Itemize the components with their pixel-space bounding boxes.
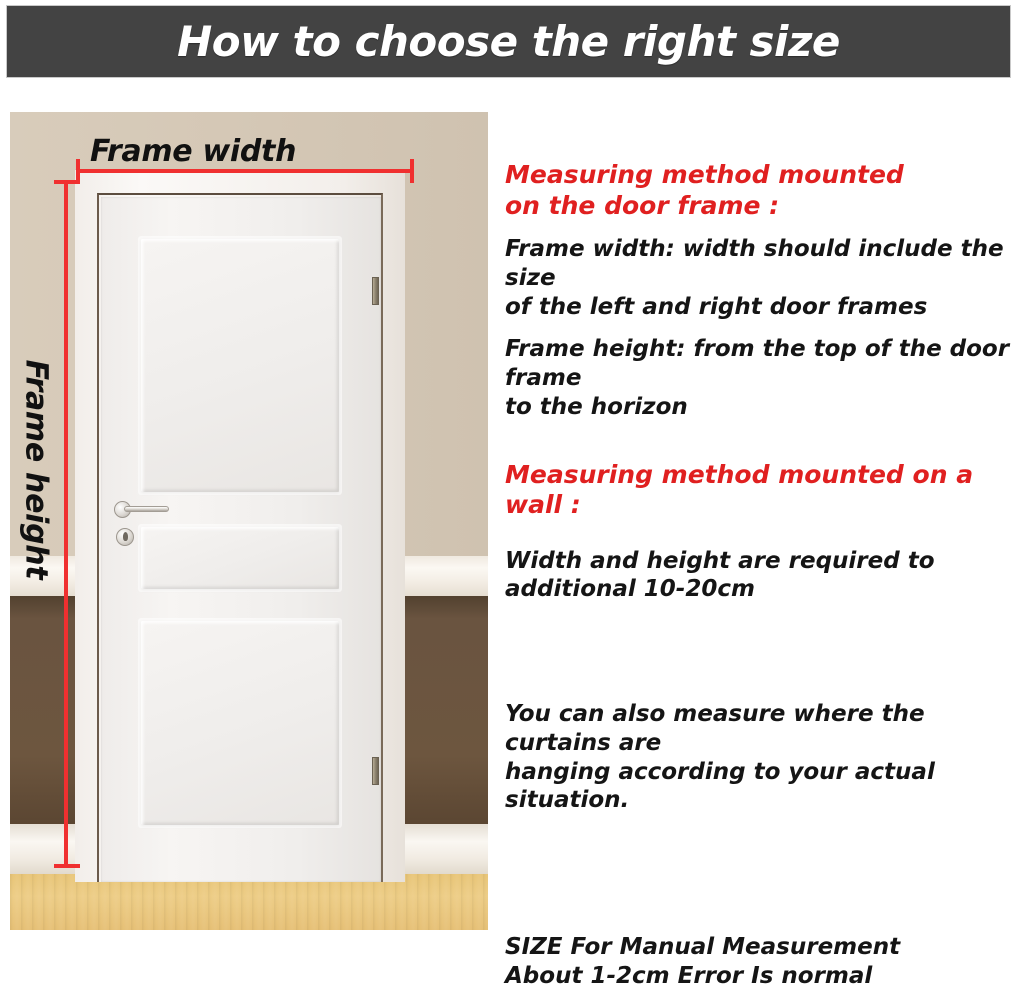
door-panel-bottom bbox=[141, 621, 339, 825]
section-disclaimer: SIZE For Manual Measurement About 1-2cm … bbox=[505, 933, 1017, 991]
door-casing bbox=[75, 169, 405, 882]
disclaimer-line1: SIZE For Manual Measurement bbox=[505, 933, 1017, 962]
frame-width-label: Frame width bbox=[90, 134, 296, 169]
section-door-frame-heading-line1: Measuring method mounted bbox=[505, 160, 1017, 191]
frame-height-dimension-line bbox=[64, 180, 68, 868]
frame-height-rule-line1: Frame height: from the top of the door f… bbox=[505, 335, 1017, 393]
keyhole-icon bbox=[116, 528, 134, 546]
frame-width-dimension-line bbox=[76, 169, 414, 173]
wood-floor bbox=[10, 874, 488, 930]
door-slab bbox=[101, 197, 381, 882]
door-hinge-top bbox=[372, 277, 379, 305]
section-wall-heading: Measuring method mounted on a wall : bbox=[505, 460, 1017, 521]
frame-width-rule-line2: of the left and right door frames bbox=[505, 293, 1017, 322]
wall-rule-line2: additional 10-20cm bbox=[505, 575, 1017, 604]
door-hinge-bottom bbox=[372, 757, 379, 785]
frame-height-cap-top bbox=[54, 180, 80, 184]
note-line2: hanging according to your actual situati… bbox=[505, 758, 1017, 816]
frame-width-rule-line1: Frame width: width should include the si… bbox=[505, 235, 1017, 293]
handle-lever bbox=[124, 506, 169, 512]
door-handle-icon bbox=[114, 501, 170, 517]
door-panel-top bbox=[141, 239, 339, 492]
section-wall: Measuring method mounted on a wall : Wid… bbox=[505, 460, 1017, 605]
wall-rule-line1: Width and height are required to bbox=[505, 547, 1017, 576]
section-note: You can also measure where the curtains … bbox=[505, 700, 1017, 815]
header-banner: How to choose the right size bbox=[6, 5, 1011, 78]
page-title: How to choose the right size bbox=[177, 17, 840, 66]
frame-height-label: Frame height bbox=[19, 360, 54, 580]
instructions-column: Measuring method mounted on the door fra… bbox=[505, 160, 1017, 991]
note-line1: You can also measure where the curtains … bbox=[505, 700, 1017, 758]
disclaimer-line2: About 1-2cm Error Is normal bbox=[505, 962, 1017, 991]
section-door-frame-heading-line2: on the door frame : bbox=[505, 191, 1017, 222]
door-panel-middle bbox=[141, 527, 339, 589]
door-photo: Frame width Frame height bbox=[10, 112, 488, 930]
frame-height-rule-line2: to the horizon bbox=[505, 393, 1017, 422]
frame-width-cap-right bbox=[410, 159, 414, 183]
frame-height-cap-bottom bbox=[54, 864, 80, 868]
section-door-frame: Measuring method mounted on the door fra… bbox=[505, 160, 1017, 422]
